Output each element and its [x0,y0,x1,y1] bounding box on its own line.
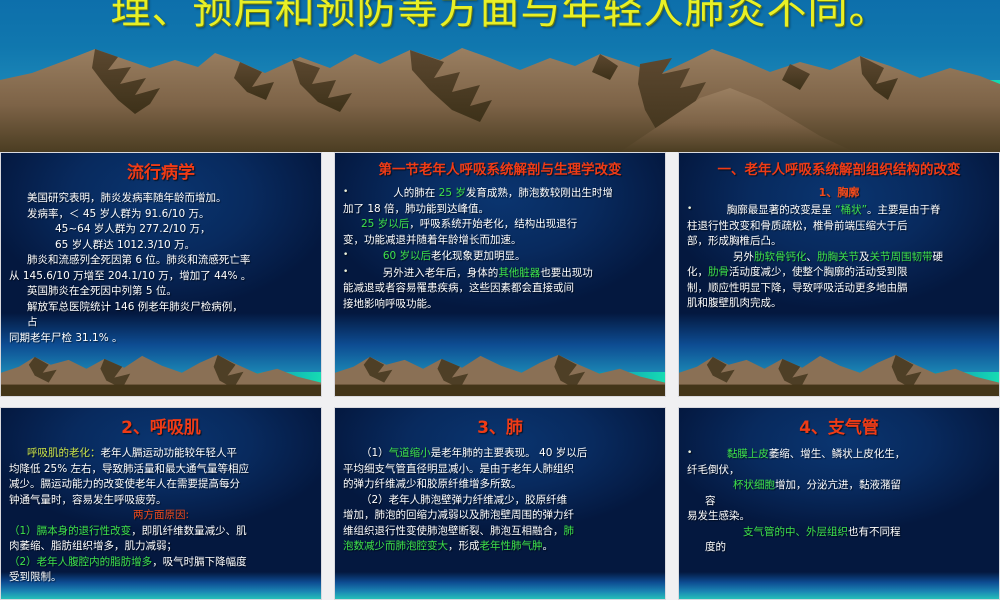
header-banner: 理、预后和预防等方面与年轻人肺炎不同。 [0,0,1000,152]
slide-subtitle: 1、胸廓 [687,185,991,200]
slide-text-block: 呼吸肌的老化：老年人膈运动功能较年轻人平 均降低 25% 左右，导致肺活量和最大… [9,446,313,586]
slide-thumbnail-1[interactable]: 流行病学 美国研究表明，肺炎发病率随年龄而增加。 发病率，＜ 45 岁人群为 9… [0,152,322,397]
slide-title: 第一节老年人呼吸系统解剖与生理学改变 [343,161,657,179]
slide-title: 一、老年人呼吸系统解剖组织结构的改变 [687,161,991,179]
slide-title: 3、肺 [343,416,657,440]
slide-text-block: 人的肺在 25 岁发育成熟，肺泡数较刚出生时增 加了 18 倍，肺功能到达峰值。… [343,185,657,312]
slide-content: 一、老年人呼吸系统解剖组织结构的改变 1、胸廓 胸廓最显著的改变是呈 “桶状”。… [679,153,999,396]
slide-content: 4、支气管 黏膜上皮萎缩、增生、鳞状上皮化生， 纤毛倒伏， 杯状细胞增加，分泌亢… [679,408,999,599]
slide-title: 4、支气管 [687,416,991,440]
slide-text-block: 黏膜上皮萎缩、增生、鳞状上皮化生， 纤毛倒伏， 杯状细胞增加，分泌亢进，黏液潴留… [687,446,991,556]
slide-thumbnail-5[interactable]: 3、肺 （1）气道缩小是老年肺的主要表现。 40 岁以后 平均细支气管直径明显减… [334,407,666,600]
slide-content: 2、呼吸肌 呼吸肌的老化：老年人膈运动功能较年轻人平 均降低 25% 左右，导致… [1,408,321,599]
slide-text-block: 胸廓最显著的改变是呈 “桶状”。主要是由于脊 柱退行性改变和骨质疏松，椎骨前端压… [687,202,991,312]
slide-content: 3、肺 （1）气道缩小是老年肺的主要表现。 40 岁以后 平均细支气管直径明显减… [335,408,665,599]
slide-content: 第一节老年人呼吸系统解剖与生理学改变 人的肺在 25 岁发育成熟，肺泡数较刚出生… [335,153,665,396]
slide-thumbnail-4[interactable]: 2、呼吸肌 呼吸肌的老化：老年人膈运动功能较年轻人平 均降低 25% 左右，导致… [0,407,322,600]
slide-title: 2、呼吸肌 [9,416,313,440]
slide-thumbnail-3[interactable]: 一、老年人呼吸系统解剖组织结构的改变 1、胸廓 胸廓最显著的改变是呈 “桶状”。… [678,152,1000,397]
slide-grid-page: 理、预后和预防等方面与年轻人肺炎不同。 流行病学 美国研究表明，肺炎发病率随年龄… [0,0,1000,600]
slide-content: 流行病学 美国研究表明，肺炎发病率随年龄而增加。 发病率，＜ 45 岁人群为 9… [1,153,321,396]
slide-thumbnail-2[interactable]: 第一节老年人呼吸系统解剖与生理学改变 人的肺在 25 岁发育成熟，肺泡数较刚出生… [334,152,666,397]
banner-mountain-range [0,40,1000,152]
slide-thumbnail-6[interactable]: 4、支气管 黏膜上皮萎缩、增生、鳞状上皮化生， 纤毛倒伏， 杯状细胞增加，分泌亢… [678,407,1000,600]
slides-grid: 流行病学 美国研究表明，肺炎发病率随年龄而增加。 发病率，＜ 45 岁人群为 9… [0,152,1000,600]
slide-title: 流行病学 [9,161,313,185]
banner-title: 理、预后和预防等方面与年轻人肺炎不同。 [0,0,1000,32]
slide-text-block: （1）气道缩小是老年肺的主要表现。 40 岁以后 平均细支气管直径明显减小。是由… [343,446,657,555]
slide-text-block: 美国研究表明，肺炎发病率随年龄而增加。 发病率，＜ 45 岁人群为 91.6/1… [9,191,313,346]
